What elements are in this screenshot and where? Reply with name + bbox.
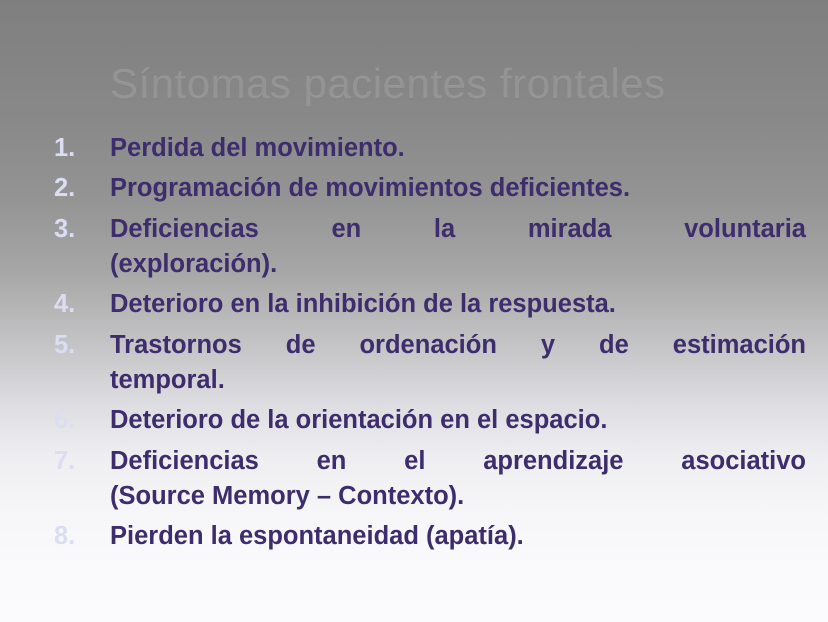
list-item: 2.Programación de movimientos deficiente…: [46, 171, 806, 206]
list-item-text: Deficiencias en la mirada voluntaria(exp…: [110, 212, 806, 282]
list-item: 5.Trastornos de ordenación y de estimaci…: [46, 328, 806, 398]
list-item-number: 4.: [54, 287, 98, 322]
list-item-number: 3.: [54, 212, 98, 247]
list-item-line: Pierden la espontaneidad (apatía).: [110, 519, 806, 554]
slide-title: Síntomas pacientes frontales: [110, 57, 810, 115]
list-item-line: (exploración).: [110, 247, 806, 282]
list-item-line: Deterioro en la inhibición de la respues…: [110, 287, 806, 322]
list-item-line: Deficiencias en la mirada voluntaria: [110, 212, 806, 247]
list-item: 8.Pierden la espontaneidad (apatía).: [46, 519, 806, 554]
list-item-number: 2.: [54, 171, 98, 206]
list-item: 7.Deficiencias en el aprendizaje asociat…: [46, 444, 806, 514]
list-item-line: temporal.: [110, 363, 806, 398]
slide-canvas: Síntomas pacientes frontales 1.Perdida d…: [0, 0, 828, 622]
list-item-number: 5.: [54, 328, 98, 363]
list-item-line: (Source Memory – Contexto).: [110, 479, 806, 514]
list-item-text: Deterioro de la orientación en el espaci…: [110, 403, 806, 438]
list-item: 4.Deterioro en la inhibición de la respu…: [46, 287, 806, 322]
list-item-number: 6.: [54, 403, 98, 438]
list-item-number: 8.: [54, 519, 98, 554]
list-item-line: Perdida del movimiento.: [110, 131, 806, 166]
list-item: 6.Deterioro de la orientación en el espa…: [46, 403, 806, 438]
list-item-text: Perdida del movimiento.: [110, 131, 806, 166]
numbered-list: 1.Perdida del movimiento.2.Programación …: [46, 131, 806, 554]
list-item-text: Programación de movimientos deficientes.: [110, 171, 806, 206]
list-item-number: 7.: [54, 444, 98, 479]
list-item-line: Trastornos de ordenación y de estimación: [110, 328, 806, 363]
list-item-text: Deficiencias en el aprendizaje asociativ…: [110, 444, 806, 514]
list-item-line: Deterioro de la orientación en el espaci…: [110, 403, 806, 438]
list-item-line: Deficiencias en el aprendizaje asociativ…: [110, 444, 806, 479]
list-item-text: Deterioro en la inhibición de la respues…: [110, 287, 806, 322]
list-item-line: Programación de movimientos deficientes.: [110, 171, 806, 206]
list-item: 3.Deficiencias en la mirada voluntaria(e…: [46, 212, 806, 282]
list-item-text: Pierden la espontaneidad (apatía).: [110, 519, 806, 554]
list-item: 1.Perdida del movimiento.: [46, 131, 806, 166]
list-item-number: 1.: [54, 131, 98, 166]
list-item-text: Trastornos de ordenación y de estimación…: [110, 328, 806, 398]
